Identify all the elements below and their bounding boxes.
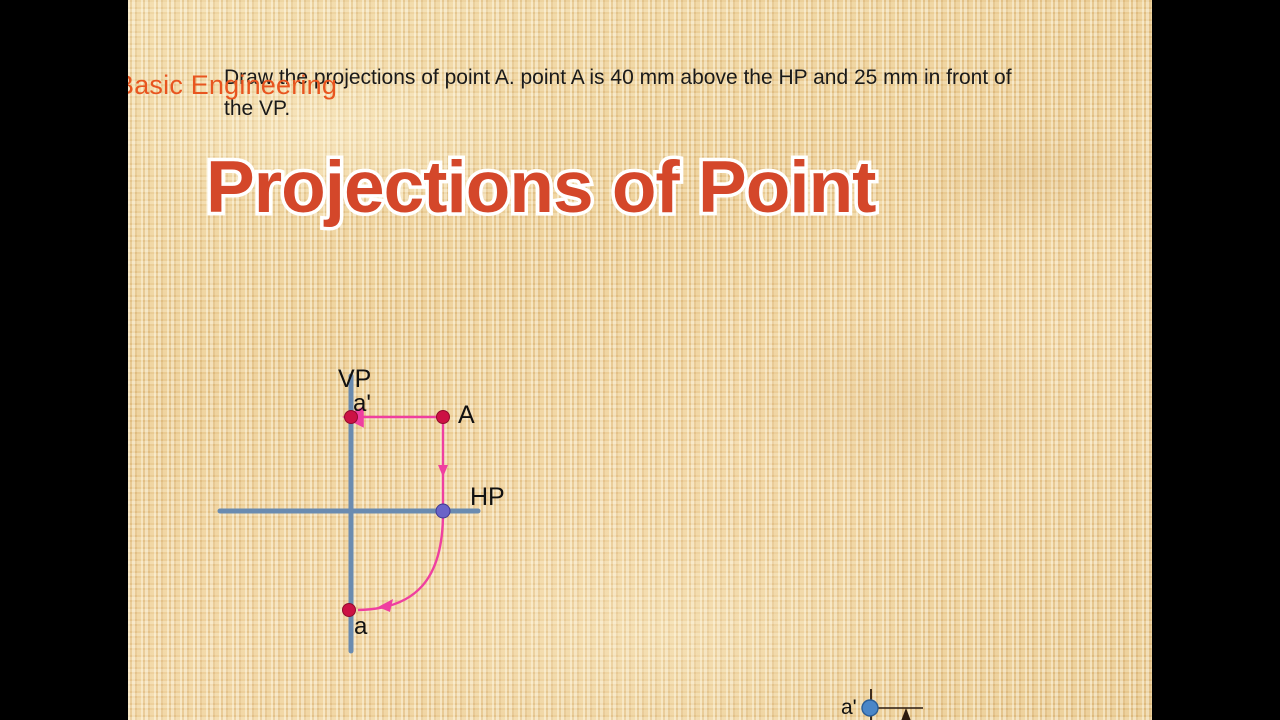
point-hp-foot-marker bbox=[436, 504, 450, 518]
point-a-label: A bbox=[458, 401, 475, 430]
pictorial-fv-label: a' bbox=[353, 390, 371, 418]
ortho-fv-label: a' bbox=[841, 696, 857, 720]
rotation-arc-arrowhead bbox=[378, 599, 393, 612]
hp-label: HP bbox=[470, 483, 505, 512]
pictorial-diagram: VP HP A a' a bbox=[188, 341, 608, 671]
dimension-40-arrow-top bbox=[901, 708, 911, 720]
point-a-marker bbox=[437, 411, 450, 424]
pictorial-tv-label: a bbox=[354, 613, 367, 641]
pictorial-svg bbox=[188, 341, 608, 671]
orthographic-diagram: X Y a' a 40 25 bbox=[598, 671, 1018, 720]
letterbox-bar-right bbox=[1152, 0, 1280, 720]
screen: Draw the projections of point A. point A… bbox=[0, 0, 1280, 720]
page-title: Projections of Point bbox=[206, 151, 1152, 224]
projector-a-to-hp-arrowhead bbox=[438, 465, 448, 477]
rotation-arc-to-tv bbox=[358, 513, 443, 610]
letterbox-bar-left bbox=[0, 0, 128, 720]
brand-label: Basic Engineering bbox=[128, 70, 1140, 101]
slide-canvas: Draw the projections of point A. point A… bbox=[128, 0, 1152, 720]
orthographic-svg bbox=[598, 671, 1018, 720]
ortho-fv-point bbox=[862, 700, 878, 716]
